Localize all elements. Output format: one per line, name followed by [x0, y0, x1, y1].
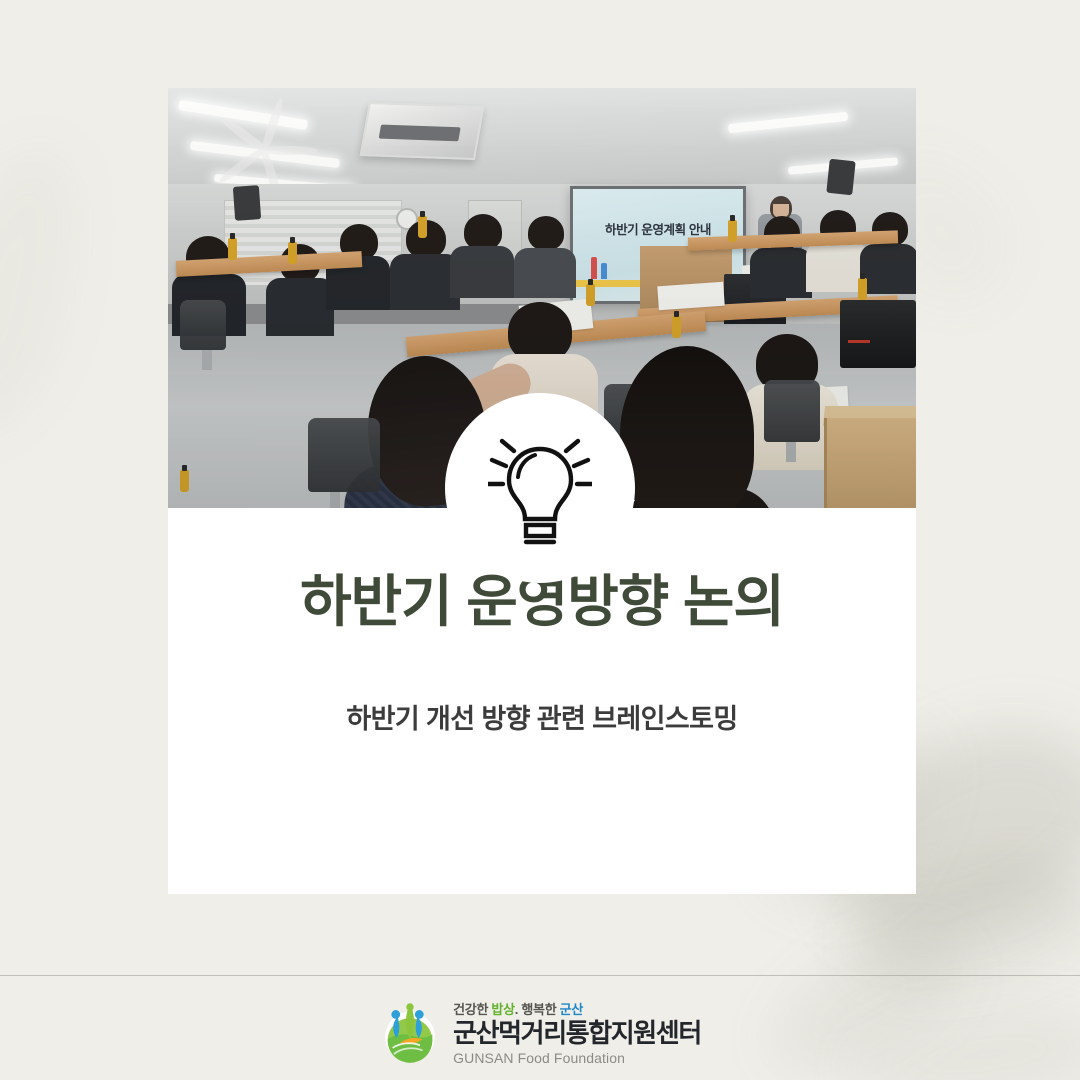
organization-name: 군산먹거리통합지원센터 — [453, 1020, 701, 1047]
footer-logo-block: 건강한 밥상. 행복한 군산 군산먹거리통합지원센터 GUNSAN Food F… — [0, 985, 1080, 1080]
logo-tagline-part2: . 행복한 — [515, 1002, 560, 1017]
logo-tagline-highlight2: 군산 — [560, 1002, 583, 1017]
gunsan-food-foundation-logo-icon — [379, 1002, 441, 1064]
logo-tagline-highlight1: 밥상 — [491, 1002, 514, 1017]
page-subtitle: 하반기 개선 방향 관련 브레인스토밍 — [168, 635, 916, 736]
leaf-shadow — [0, 129, 104, 452]
lightbulb-badge — [445, 393, 635, 583]
footer-divider — [0, 975, 1080, 976]
content-card: 하반기 운영계획 안내 — [168, 88, 916, 894]
organization-name-en: GUNSAN Food Foundation — [453, 1050, 701, 1066]
logo-tagline-part1: 건강한 — [453, 1002, 491, 1017]
logo-text-group: 건강한 밥상. 행복한 군산 군산먹거리통합지원센터 GUNSAN Food F… — [453, 999, 701, 1065]
lightbulb-icon — [488, 429, 592, 547]
text-block: 하반기 운영방향 논의 하반기 개선 방향 관련 브레인스토밍 — [168, 568, 916, 736]
poster-canvas: 하반기 운영계획 안내 — [0, 0, 1080, 1080]
logo-tagline: 건강한 밥상. 행복한 군산 — [453, 999, 701, 1018]
